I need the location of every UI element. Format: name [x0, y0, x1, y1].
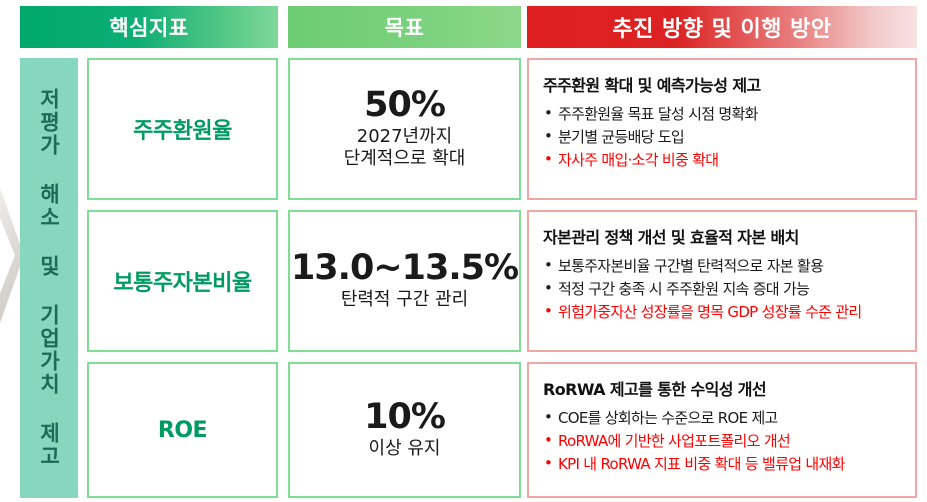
target-note: 탄력적 구간 관리: [341, 289, 468, 312]
header-cell-target: 목표: [288, 6, 521, 48]
kpi-cell: 보통주자본비율: [87, 210, 278, 352]
plan-cell: 주주환원 확대 및 예측가능성 제고 주주환원율 목표 달성 시점 명확화 분기…: [527, 58, 917, 200]
table-row: 보통주자본비율 13.0~13.5% 탄력적 구간 관리 자본관리 정책 개선 …: [0, 210, 927, 352]
plan-bullet: 적정 구간 충족 시 주주환원 지속 증대 가능: [543, 278, 905, 301]
slide-root: 핵심지표 목표 추진 방향 및 이행 방안 저평가 해소 및 기업가치 제고 주…: [0, 0, 927, 502]
header-target-label: 목표: [385, 12, 425, 42]
plan-bullet-highlight: KPI 내 RoRWA 지표 비중 확대 등 밸류업 내재화: [543, 453, 905, 476]
table-row: ROE 10% 이상 유지 RoRWA 제고를 통한 수익성 개선 COE를 상…: [0, 362, 927, 498]
kpi-cell: ROE: [87, 362, 278, 498]
plan-title: 자본관리 정책 개선 및 효율적 자본 배치: [543, 224, 905, 248]
target-note: 이상 유지: [369, 438, 441, 461]
plan-bullet-highlight: 자사주 매입·소각 비중 확대: [543, 149, 905, 172]
plan-cell: 자본관리 정책 개선 및 효율적 자본 배치 보통주자본비율 구간별 탄력적으로…: [527, 210, 917, 352]
target-note: 2027년까지 단계적으로 확대: [344, 126, 466, 171]
plan-bullet: 보통주자본비율 구간별 탄력적으로 자본 활용: [543, 255, 905, 278]
plan-bullet-highlight: 위험가중자산 성장률을 명목 GDP 성장률 수준 관리: [543, 301, 905, 324]
target-cell: 10% 이상 유지: [288, 362, 521, 498]
kpi-cell: 주주환원율: [87, 58, 278, 200]
plan-bullet-highlight: RoRWA에 기반한 사업포트폴리오 개선: [543, 430, 905, 453]
plan-bullet-list: 주주환원율 목표 달성 시점 명확화 분기별 균등배당 도입 자사주 매입·소각…: [543, 103, 905, 171]
plan-bullet-list: 보통주자본비율 구간별 탄력적으로 자본 활용 적정 구간 충족 시 주주환원 …: [543, 255, 905, 323]
plan-title: RoRWA 제고를 통한 수익성 개선: [543, 376, 905, 400]
target-cell: 50% 2027년까지 단계적으로 확대: [288, 58, 521, 200]
kpi-label: 보통주자본비율: [113, 265, 251, 297]
plan-title: 주주환원 확대 및 예측가능성 제고: [543, 72, 905, 96]
header-cell-kpi: 핵심지표: [20, 6, 278, 48]
plan-bullet: 주주환원율 목표 달성 시점 명확화: [543, 103, 905, 126]
table-header-row: 핵심지표 목표 추진 방향 및 이행 방안: [0, 0, 927, 50]
target-cell: 13.0~13.5% 탄력적 구간 관리: [288, 210, 521, 352]
header-plan-label: 추진 방향 및 이행 방안: [612, 11, 831, 43]
target-value: 50%: [364, 88, 445, 123]
plan-cell: RoRWA 제고를 통한 수익성 개선 COE를 상회하는 수준으로 ROE 제…: [527, 362, 917, 498]
kpi-label: 주주환원율: [133, 113, 232, 145]
plan-bullet-list: COE를 상회하는 수준으로 ROE 제고 RoRWA에 기반한 사업포트폴리오…: [543, 407, 905, 475]
header-cell-plan: 추진 방향 및 이행 방안: [527, 6, 917, 48]
header-kpi-label: 핵심지표: [109, 12, 188, 42]
target-value: 10%: [364, 400, 445, 435]
table-row: 주주환원율 50% 2027년까지 단계적으로 확대 주주환원 확대 및 예측가…: [0, 58, 927, 200]
plan-bullet: 분기별 균등배당 도입: [543, 126, 905, 149]
plan-bullet: COE를 상회하는 수준으로 ROE 제고: [543, 407, 905, 430]
target-value: 13.0~13.5%: [291, 251, 518, 286]
kpi-label: ROE: [158, 418, 207, 443]
